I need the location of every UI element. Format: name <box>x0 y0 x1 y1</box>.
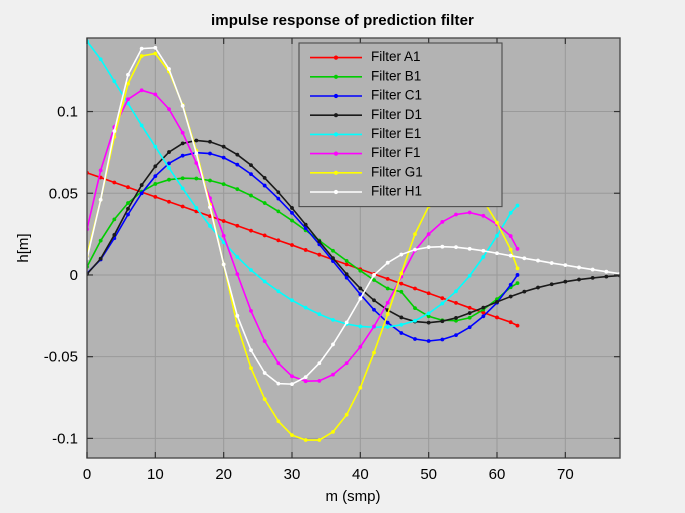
legend-swatch-marker <box>334 113 338 117</box>
series-marker <box>249 163 253 167</box>
series-marker <box>304 306 308 310</box>
series-marker <box>509 254 513 258</box>
series-marker <box>317 438 321 442</box>
series-marker <box>249 194 253 198</box>
series-marker <box>468 316 472 320</box>
series-marker <box>495 234 499 238</box>
y-tick-label: -0.05 <box>44 349 78 366</box>
legend-swatch-marker <box>334 56 338 60</box>
series-marker <box>440 245 444 249</box>
series-marker <box>126 185 130 189</box>
series-marker <box>386 277 390 281</box>
series-marker <box>522 290 526 294</box>
series-marker <box>249 268 253 272</box>
series-marker <box>468 325 472 329</box>
series-marker <box>427 339 431 343</box>
series-marker <box>167 150 171 154</box>
series-marker <box>290 433 294 437</box>
series-marker <box>481 306 485 310</box>
series-marker <box>440 220 444 224</box>
series-marker <box>153 92 157 96</box>
series-marker <box>290 298 294 302</box>
series-marker <box>208 205 212 209</box>
series-marker <box>153 195 157 199</box>
series-marker <box>468 311 472 315</box>
series-marker <box>112 181 116 185</box>
series-marker <box>263 234 267 238</box>
series-marker <box>495 316 499 320</box>
series-marker <box>372 273 376 277</box>
series-marker <box>372 308 376 312</box>
series-marker <box>345 259 349 263</box>
x-tick-label: 0 <box>83 466 91 483</box>
series-marker <box>99 239 103 243</box>
chart-legend[interactable]: Filter A1Filter B1Filter C1Filter D1Filt… <box>299 43 502 207</box>
series-marker <box>481 214 485 218</box>
series-marker <box>276 197 280 201</box>
series-marker <box>331 249 335 253</box>
series-marker <box>235 153 239 157</box>
series-marker <box>427 232 431 236</box>
series-marker <box>208 224 212 228</box>
series-marker <box>413 319 417 323</box>
series-marker <box>413 337 417 341</box>
legend-label: Filter B1 <box>371 68 421 83</box>
series-marker <box>222 145 226 149</box>
series-marker <box>112 79 116 83</box>
series-marker <box>126 207 130 211</box>
x-tick-label: 60 <box>489 466 506 483</box>
series-marker <box>194 139 198 143</box>
series-marker <box>345 262 349 266</box>
legend-swatch-marker <box>334 132 338 136</box>
series-marker <box>331 343 335 347</box>
chart-plot: 0102030405060700.10.050-0.05-0.1 m (smp)… <box>0 0 685 513</box>
series-marker <box>427 291 431 295</box>
series-marker <box>222 262 226 266</box>
series-marker <box>140 88 144 92</box>
series-marker <box>454 301 458 305</box>
series-marker <box>263 176 267 180</box>
legend-label: Filter C1 <box>371 88 422 103</box>
series-marker <box>290 206 294 210</box>
legend-label: Filter G1 <box>371 164 423 179</box>
series-marker <box>358 286 362 290</box>
series-marker <box>345 272 349 276</box>
series-marker <box>181 205 185 209</box>
series-marker <box>235 324 239 328</box>
legend-label: Filter A1 <box>371 49 421 64</box>
series-marker <box>345 320 349 324</box>
series-marker <box>331 430 335 434</box>
series-marker <box>263 280 267 284</box>
series-marker <box>276 361 280 365</box>
series-marker <box>249 348 253 352</box>
series-marker <box>167 166 171 170</box>
series-marker <box>222 219 226 223</box>
series-marker <box>290 374 294 378</box>
series-marker <box>140 47 144 51</box>
y-tick-label: 0 <box>70 267 78 284</box>
series-marker <box>399 282 403 286</box>
series-marker <box>516 281 520 285</box>
series-marker <box>454 333 458 337</box>
series-marker <box>481 255 485 259</box>
series-marker <box>304 375 308 379</box>
series-marker <box>276 419 280 423</box>
series-marker <box>208 140 212 144</box>
y-tick-label: -0.1 <box>52 430 78 447</box>
series-marker <box>153 46 157 50</box>
legend-label: Filter D1 <box>371 107 422 122</box>
series-marker <box>413 306 417 310</box>
series-marker <box>358 345 362 349</box>
series-marker <box>235 255 239 259</box>
series-marker <box>591 268 595 272</box>
series-marker <box>454 213 458 217</box>
series-marker <box>249 229 253 233</box>
series-marker <box>372 351 376 355</box>
y-tick-label: 0.1 <box>57 104 78 121</box>
series-marker <box>468 247 472 251</box>
series-marker <box>427 245 431 249</box>
series-marker <box>290 219 294 223</box>
series-marker <box>509 320 513 324</box>
series-marker <box>591 276 595 280</box>
series-marker <box>495 251 499 255</box>
series-marker <box>304 248 308 252</box>
series-marker <box>386 261 390 265</box>
y-tick-label: 0.05 <box>49 185 78 202</box>
series-marker <box>604 275 608 279</box>
series-marker <box>536 286 540 290</box>
x-tick-label: 70 <box>557 466 574 483</box>
figure-container: impulse response of prediction filter 01… <box>0 0 685 513</box>
x-axis-label: m (smp) <box>326 488 381 505</box>
series-marker <box>153 174 157 178</box>
series-marker <box>577 278 581 282</box>
series-marker <box>468 274 472 278</box>
series-marker <box>112 129 116 133</box>
series-marker <box>112 233 116 237</box>
series-marker <box>317 361 321 365</box>
series-marker <box>263 371 267 375</box>
series-marker <box>153 182 157 186</box>
series-marker <box>522 256 526 260</box>
series-marker <box>345 413 349 417</box>
series-marker <box>153 52 157 56</box>
series-marker <box>99 257 103 261</box>
series-marker <box>345 361 349 365</box>
series-marker <box>440 338 444 342</box>
series-marker <box>454 289 458 293</box>
series-marker <box>276 238 280 242</box>
series-marker <box>516 273 520 277</box>
series-marker <box>550 261 554 265</box>
series-marker <box>577 266 581 270</box>
legend-label: Filter F1 <box>371 145 421 160</box>
series-marker <box>181 131 185 135</box>
legend-swatch-marker <box>334 190 338 194</box>
series-marker <box>468 211 472 215</box>
series-marker <box>454 245 458 249</box>
series-marker <box>181 186 185 190</box>
series-marker <box>235 163 239 167</box>
series-marker <box>509 211 513 215</box>
series-marker <box>413 248 417 252</box>
x-tick-label: 40 <box>352 466 369 483</box>
x-tick-label: 20 <box>215 466 232 483</box>
series-marker <box>140 191 144 195</box>
series-marker <box>516 267 520 271</box>
series-marker <box>222 234 226 238</box>
series-marker <box>194 177 198 181</box>
series-marker <box>372 325 376 329</box>
series-marker <box>399 253 403 257</box>
series-marker <box>235 314 239 318</box>
series-marker <box>276 382 280 386</box>
series-marker <box>235 272 239 276</box>
series-marker <box>509 283 513 287</box>
series-marker <box>468 306 472 310</box>
legend-swatch-marker <box>334 171 338 175</box>
series-marker <box>263 339 267 343</box>
series-marker <box>235 224 239 228</box>
series-marker <box>358 325 362 329</box>
series-marker <box>317 240 321 244</box>
series-marker <box>167 67 171 71</box>
series-marker <box>290 243 294 247</box>
series-marker <box>386 312 390 316</box>
series-marker <box>126 97 130 101</box>
series-marker <box>516 247 520 251</box>
series-marker <box>386 287 390 291</box>
series-marker <box>222 156 226 160</box>
series-marker <box>495 300 499 304</box>
series-marker <box>167 107 171 111</box>
series-marker <box>181 154 185 158</box>
legend-swatch-marker <box>334 152 338 156</box>
series-marker <box>181 142 185 146</box>
series-marker <box>399 290 403 294</box>
legend-swatch-marker <box>334 75 338 79</box>
series-marker <box>440 319 444 323</box>
x-tick-label: 30 <box>284 466 301 483</box>
series-marker <box>440 296 444 300</box>
series-marker <box>263 184 267 188</box>
x-tick-label: 10 <box>147 466 164 483</box>
series-marker <box>304 379 308 383</box>
series-marker <box>249 309 253 313</box>
series-marker <box>263 201 267 205</box>
series-marker <box>140 124 144 128</box>
series-marker <box>454 316 458 320</box>
series-marker <box>99 198 103 202</box>
series-marker <box>126 73 130 77</box>
series-marker <box>140 183 144 187</box>
series-marker <box>99 168 103 172</box>
series-marker <box>440 302 444 306</box>
series-marker <box>249 172 253 176</box>
series-marker <box>153 164 157 168</box>
series-marker <box>208 152 212 156</box>
series-marker <box>563 263 567 267</box>
series-marker <box>550 282 554 286</box>
series-marker <box>317 379 321 383</box>
series-marker <box>386 325 390 329</box>
series-marker <box>509 248 513 252</box>
series-marker <box>276 190 280 194</box>
series-marker <box>126 201 130 205</box>
series-marker <box>290 211 294 215</box>
series-marker <box>194 151 198 155</box>
series-marker <box>290 382 294 386</box>
series-marker <box>181 104 185 108</box>
series-marker <box>427 321 431 325</box>
series-marker <box>140 54 144 58</box>
series-marker <box>563 280 567 284</box>
series-marker <box>358 297 362 301</box>
legend-label: Filter E1 <box>371 126 421 141</box>
series-marker <box>509 295 513 299</box>
series-marker <box>516 204 520 208</box>
series-marker <box>317 312 321 316</box>
series-marker <box>399 323 403 327</box>
series-marker <box>516 324 520 328</box>
series-marker <box>126 213 130 217</box>
series-marker <box>99 57 103 61</box>
series-marker <box>358 386 362 390</box>
y-axis-label: h[m] <box>15 233 32 262</box>
series-marker <box>208 179 212 183</box>
series-marker <box>317 253 321 257</box>
series-marker <box>331 318 335 322</box>
series-marker <box>495 221 499 225</box>
series-marker <box>181 176 185 180</box>
series-marker <box>112 218 116 222</box>
series-marker <box>167 200 171 204</box>
series-marker <box>304 438 308 442</box>
series-marker <box>263 397 267 401</box>
series-marker <box>536 259 540 263</box>
legend-swatch-marker <box>334 94 338 98</box>
series-marker <box>386 301 390 305</box>
series-marker <box>413 232 417 236</box>
series-marker <box>304 223 308 227</box>
series-marker <box>604 270 608 274</box>
series-marker <box>153 145 157 149</box>
series-marker <box>481 249 485 253</box>
series-marker <box>222 182 226 186</box>
series-marker <box>413 287 417 291</box>
series-marker <box>358 269 362 273</box>
series-marker <box>399 316 403 320</box>
series-marker <box>427 311 431 315</box>
series-marker <box>372 298 376 302</box>
series-marker <box>276 209 280 213</box>
series-marker <box>386 321 390 325</box>
series-marker <box>235 187 239 191</box>
series-marker <box>194 206 198 210</box>
series-marker <box>399 271 403 275</box>
series-marker <box>167 178 171 182</box>
legend-label: Filter H1 <box>371 184 422 199</box>
series-marker <box>331 256 335 260</box>
series-marker <box>249 366 253 370</box>
series-marker <box>331 373 335 377</box>
series-marker <box>276 289 280 293</box>
series-marker <box>481 314 485 318</box>
series-marker <box>399 331 403 335</box>
series-marker <box>509 234 513 238</box>
x-tick-label: 50 <box>420 466 437 483</box>
